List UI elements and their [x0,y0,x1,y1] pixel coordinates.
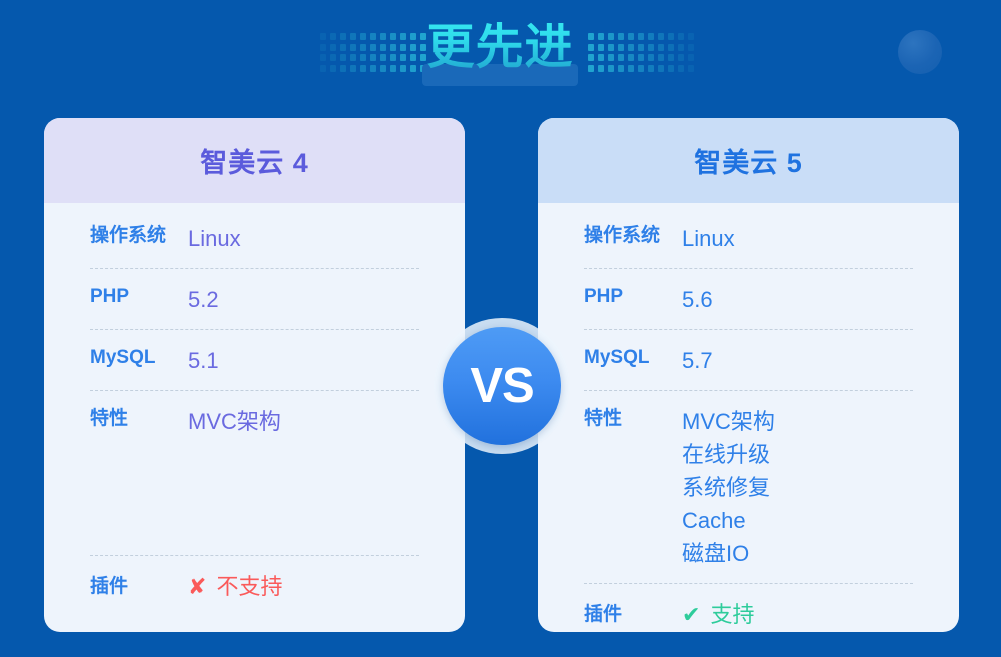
dot [330,44,336,51]
cross-icon: ✘ [188,576,206,598]
card-title-right: 智美云 5 [694,141,803,180]
plugin-status-text: 支持 [710,598,754,631]
dot [370,44,376,51]
dot-row [588,33,698,44]
dot [688,54,694,61]
dot [380,54,386,61]
spec-value: MVC架构 [188,405,281,438]
dot [638,44,644,51]
dot [320,33,326,40]
dot [360,65,366,72]
card-header-left: 智美云 4 [44,118,465,203]
dot-row [588,65,698,76]
dot [628,65,634,72]
dot [618,44,624,51]
page-title: 更先进 [424,18,576,90]
dot [598,65,604,72]
plugin-row: 插件 ✘ 不支持 [90,555,419,616]
dot [618,65,624,72]
dot [688,65,694,72]
dot [380,44,386,51]
vs-label: VS [470,362,533,411]
dot [608,54,614,61]
vs-badge-circle: VS [443,327,561,445]
plugin-label: 插件 [90,573,188,601]
spec-value: 5.7 [682,344,713,377]
dot [618,54,624,61]
spec-row: PHP 5.6 [584,268,913,329]
dot [330,33,336,40]
dot [628,33,634,40]
dot-pattern-left [320,33,430,75]
dot [330,65,336,72]
dot [400,33,406,40]
spec-row: MySQL 5.1 [90,329,419,390]
dot [390,33,396,40]
comparison-card-right: 智美云 5 操作系统 Linux PHP 5.6 MySQL 5.7 特性 MV… [538,118,959,632]
dot [638,65,644,72]
plugin-status-text: 不支持 [216,570,282,603]
dot [668,33,674,40]
spec-row: PHP 5.2 [90,268,419,329]
dot [628,44,634,51]
dot [380,33,386,40]
dot [390,54,396,61]
spec-label: 特性 [584,405,682,433]
dot-pattern-right [588,33,698,75]
dot [658,44,664,51]
spec-value: MVC架构 在线升级 系统修复 Cache 磁盘IO [682,405,775,570]
spec-list-left: 操作系统 Linux PHP 5.2 MySQL 5.1 特性 MVC架构 插件… [44,203,465,616]
spec-value: Linux [188,222,241,255]
dot [688,44,694,51]
spec-label: PHP [584,283,682,311]
check-icon: ✔ [682,604,700,626]
dot [648,54,654,61]
dot-row [588,44,698,55]
dot [350,44,356,51]
spacer [90,451,419,555]
dot [588,54,594,61]
dot [608,65,614,72]
spec-row: 操作系统 Linux [90,203,419,268]
dot [668,54,674,61]
spec-value: 5.2 [188,283,219,316]
dot [588,33,594,40]
spec-label: 特性 [90,405,188,433]
dot [688,33,694,40]
spec-list-right: 操作系统 Linux PHP 5.6 MySQL 5.7 特性 MVC架构 在线… [538,203,959,632]
dot [678,44,684,51]
spec-label: 操作系统 [90,222,188,250]
dot [598,54,604,61]
dot [400,65,406,72]
dot [390,65,396,72]
dot [638,33,644,40]
spec-row: 特性 MVC架构 在线升级 系统修复 Cache 磁盘IO [584,390,913,583]
page-header: 更先进 [0,0,1001,104]
dot [678,33,684,40]
spec-row: 操作系统 Linux [584,203,913,268]
dot [360,33,366,40]
dot [678,54,684,61]
dot [598,44,604,51]
page-title-text: 更先进 [424,18,576,78]
dot [588,65,594,72]
dot [340,33,346,40]
dot [340,44,346,51]
dot [410,54,416,61]
dot [360,54,366,61]
spec-row: MySQL 5.7 [584,329,913,390]
dot [598,33,604,40]
dot [370,65,376,72]
plugin-row: 插件 ✔ 支持 [584,583,913,632]
dot [390,44,396,51]
vs-badge: VS [434,318,570,454]
dot [658,33,664,40]
spec-label: MySQL [584,344,682,372]
plugin-label: 插件 [584,601,682,629]
dot [350,54,356,61]
dot [320,65,326,72]
plugin-status: ✔ 支持 [682,598,754,631]
dot [330,54,336,61]
spec-value: Linux [682,222,735,255]
dot [648,65,654,72]
dot [410,65,416,72]
dot [360,44,366,51]
dot [340,65,346,72]
dot [320,44,326,51]
spec-value: 5.6 [682,283,713,316]
dot [380,65,386,72]
plugin-status: ✘ 不支持 [188,570,282,603]
dot [370,33,376,40]
spec-label: 操作系统 [584,222,682,250]
dot-row [320,54,430,65]
dot [678,65,684,72]
dot-row [320,33,430,44]
spec-label: PHP [90,283,188,311]
dot [628,54,634,61]
dot-row [588,54,698,65]
spec-value: 5.1 [188,344,219,377]
dot [588,44,594,51]
dot [370,54,376,61]
card-title-left: 智美云 4 [200,141,309,180]
dot-row [320,44,430,55]
dot [618,33,624,40]
dot [608,44,614,51]
dot [668,65,674,72]
comparison-card-left: 智美云 4 操作系统 Linux PHP 5.2 MySQL 5.1 特性 MV… [44,118,465,632]
dot [658,65,664,72]
card-header-right: 智美云 5 [538,118,959,203]
dot [608,33,614,40]
dot [410,33,416,40]
dot [638,54,644,61]
dot [400,44,406,51]
dot [648,33,654,40]
dot [658,54,664,61]
dot [350,33,356,40]
dot [340,54,346,61]
dot [350,65,356,72]
dot [400,54,406,61]
dot [410,44,416,51]
dot-row [320,65,430,76]
dot [668,44,674,51]
spec-label: MySQL [90,344,188,372]
dot [320,54,326,61]
spec-row: 特性 MVC架构 [90,390,419,451]
dot [648,44,654,51]
